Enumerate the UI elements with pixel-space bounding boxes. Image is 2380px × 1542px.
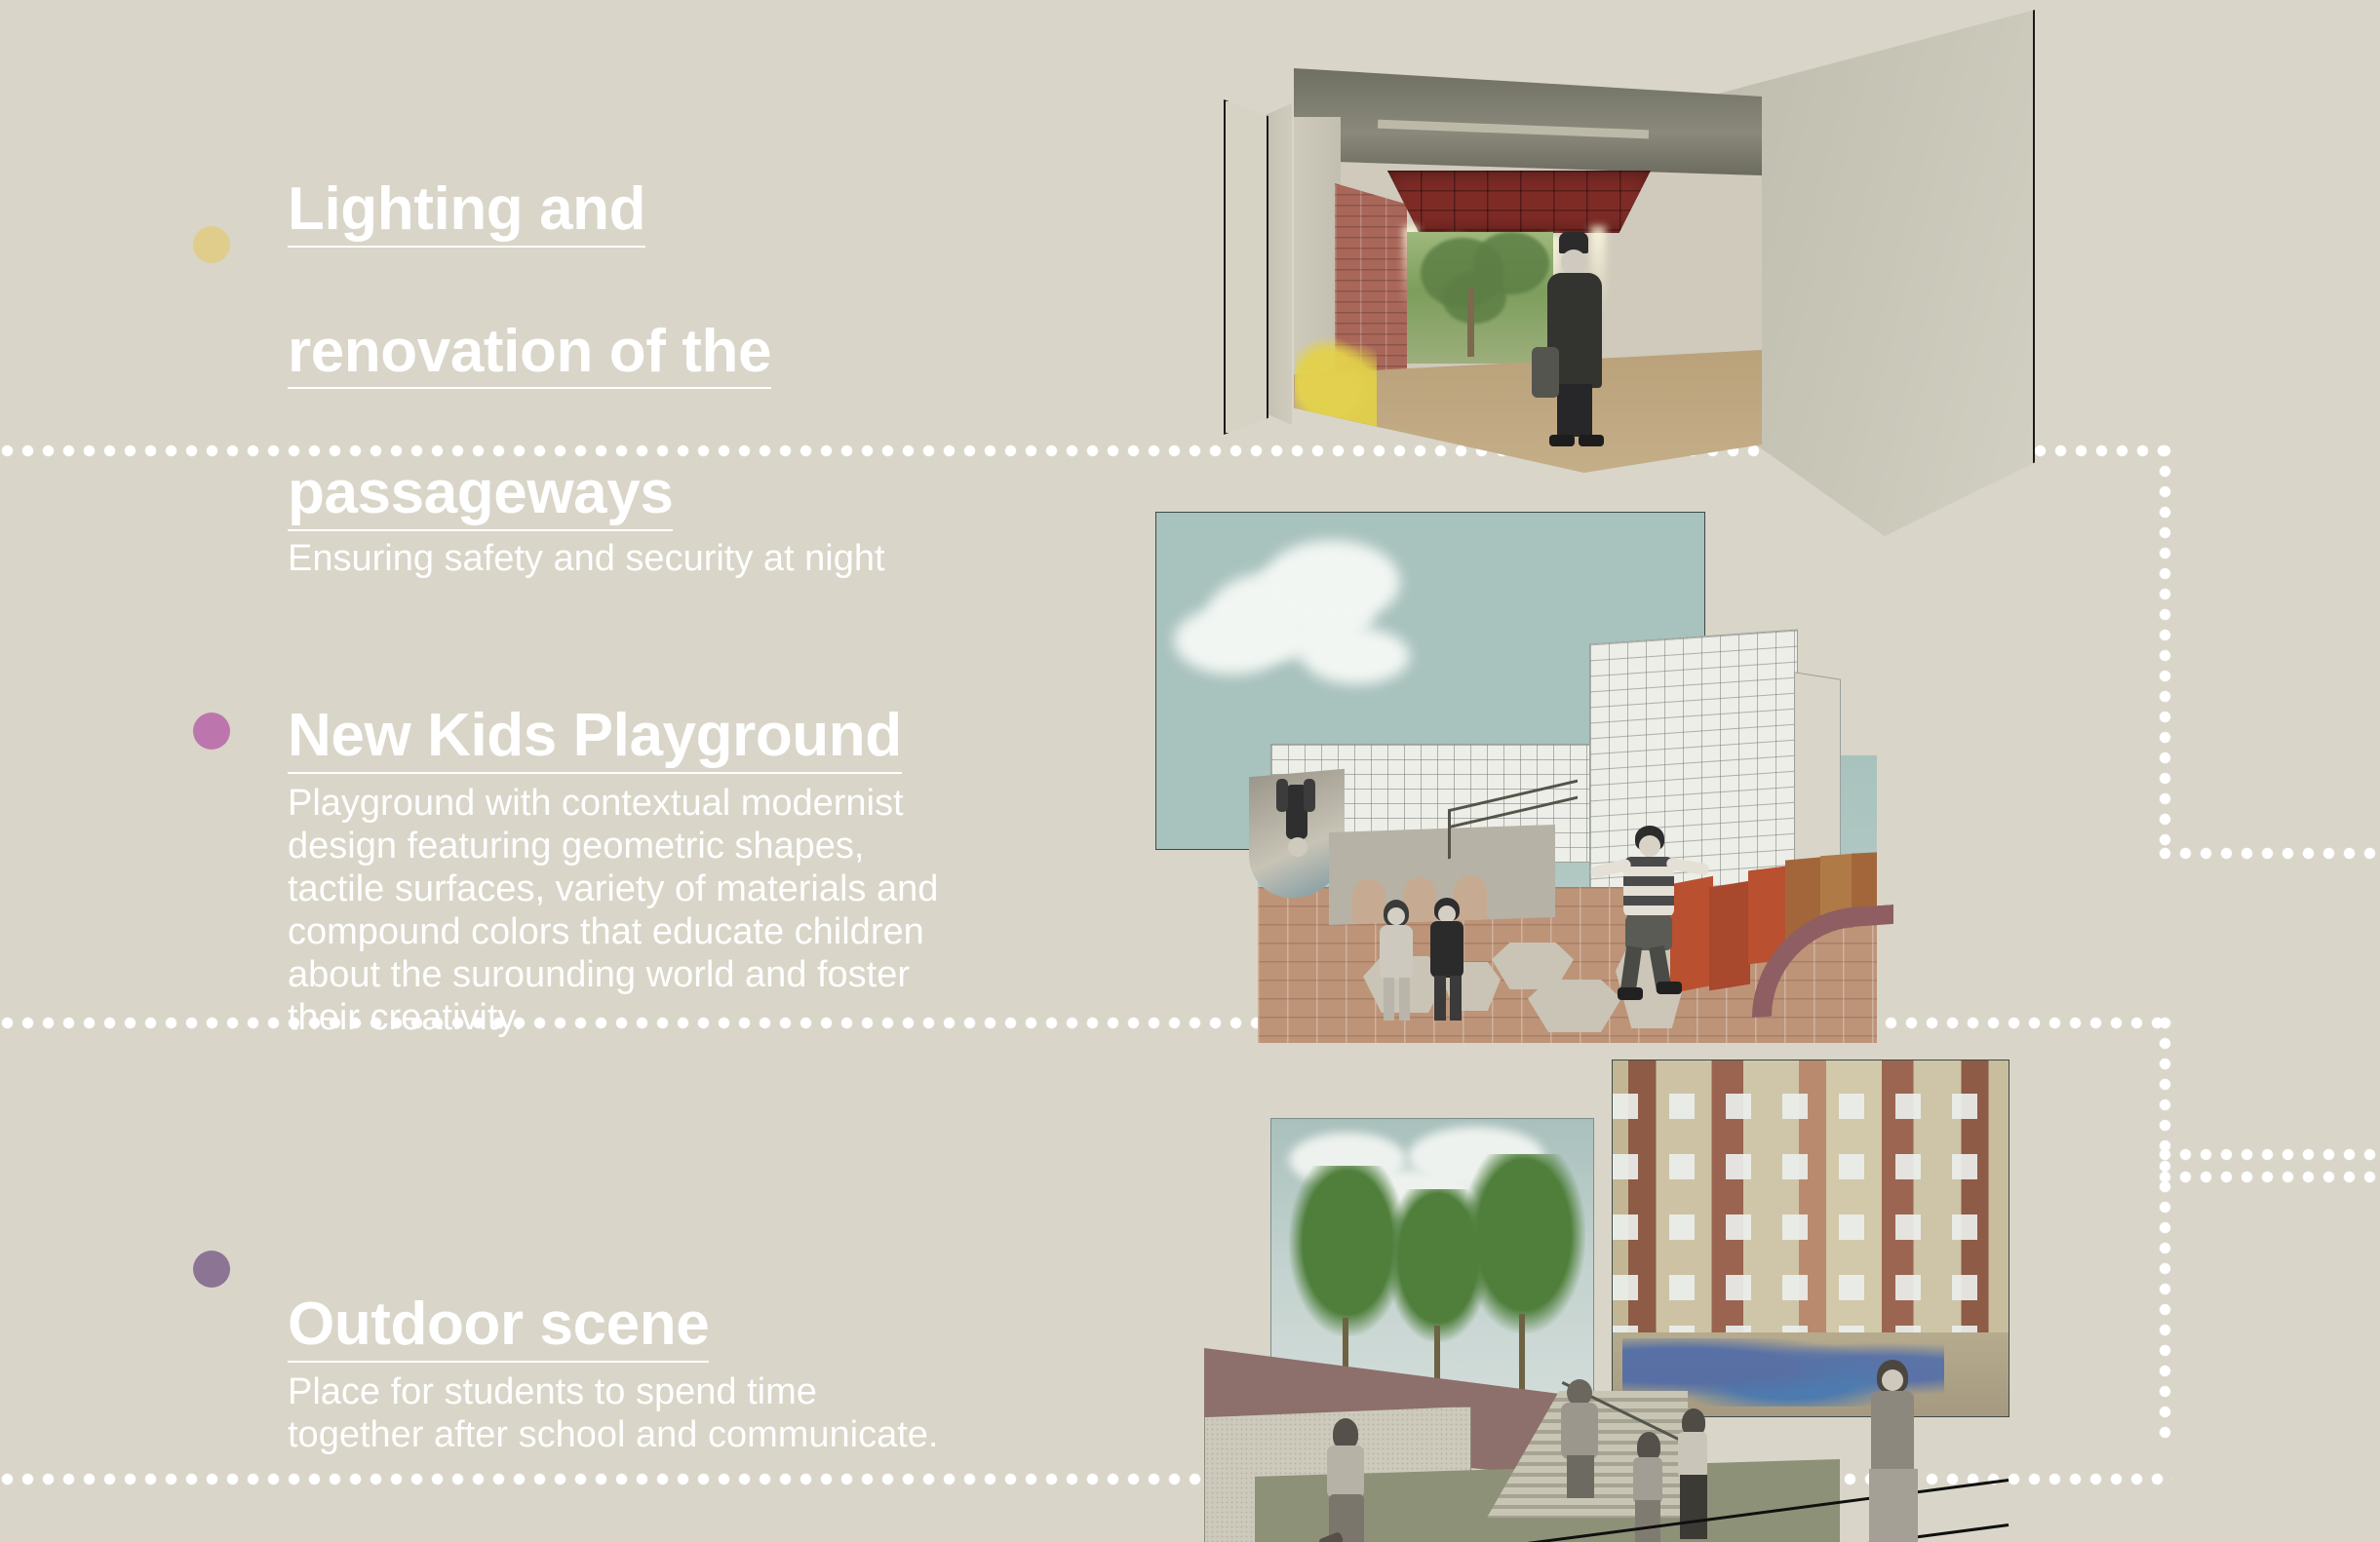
student-figure-running [1319, 1418, 1376, 1542]
dotted-guide-line-branch-lower-b [2158, 1170, 2380, 1184]
dotted-guide-line-vertical-upper [2158, 443, 2172, 853]
passageway-render [1224, 10, 2033, 536]
cloud [1174, 606, 1291, 675]
section-1-heading: Lighting and renovation of the passagewa… [288, 105, 1165, 531]
bullet-dot-magenta [193, 713, 230, 750]
figure-dress-bottom [1869, 1469, 1918, 1542]
child-figure-girl-seated [1372, 900, 1424, 1024]
dotted-guide-line-vertical-lower [2158, 1016, 2172, 1446]
section-3-heading-line-1: Outdoor scene [288, 1290, 709, 1362]
section-3-heading: Outdoor scene [288, 1220, 1165, 1363]
figure-leg [1450, 976, 1462, 1021]
outdoor-scene-render [1204, 1038, 2009, 1542]
figure-shorts [1625, 915, 1672, 950]
figure-head [1561, 250, 1586, 275]
open-door-panel [1224, 99, 1268, 435]
tree-crown [1463, 1154, 1585, 1333]
playground-render [1155, 512, 1877, 1043]
figure-dress-top [1871, 1391, 1914, 1475]
child-figure-boy-jumping [1584, 826, 1713, 1003]
figure-head [1288, 837, 1307, 857]
figure-leg [1276, 779, 1288, 812]
pedestrian-figure [1534, 232, 1616, 458]
figure-shoe [1618, 987, 1643, 1000]
figure-face [1882, 1369, 1903, 1391]
passage-interior [1294, 68, 1762, 473]
student-figure-on-stairs [1555, 1379, 1606, 1504]
section-2-text-group: New Kids Playground Playground with cont… [288, 632, 1165, 1039]
child-figure-boy-seated [1423, 898, 1475, 1024]
section-1-heading-line-3: passageways [288, 458, 673, 530]
section-1-subtitle: Ensuring safety and security at night [288, 537, 1165, 580]
window-row [1613, 1275, 2009, 1300]
figure-trousers [1635, 1500, 1660, 1542]
passage-ceiling [1294, 68, 1762, 175]
figure-face [1387, 907, 1405, 925]
window-row [1613, 1154, 2009, 1179]
figure-shoe-right [1579, 435, 1604, 446]
figure-shoe-left [1549, 435, 1575, 446]
figure-leg [1620, 945, 1642, 992]
figure-shopping-bag [1532, 347, 1559, 398]
apartment-building-photo [1612, 1060, 2009, 1417]
figure-leg [1304, 779, 1315, 812]
presentation-board: Lighting and renovation of the passagewa… [0, 0, 2380, 1542]
figure-legs [1567, 1455, 1594, 1498]
section-1-text-group: Lighting and renovation of the passagewa… [288, 105, 1165, 580]
figure-face [1639, 835, 1660, 857]
cloud [1303, 628, 1410, 684]
orange-partition [1709, 881, 1750, 991]
section-3-text-group: Outdoor scene Place for students to spen… [288, 1220, 1165, 1456]
ceiling-light-grid [1387, 171, 1651, 233]
figure-dress [1380, 925, 1413, 980]
bullet-dot-purple [193, 1251, 230, 1288]
figure-leg [1384, 978, 1394, 1021]
tree-trunk [1467, 289, 1474, 357]
graffiti-yellow [1295, 329, 1377, 437]
figure-leg [1434, 976, 1446, 1021]
figure-coat [1561, 1403, 1598, 1459]
section-2-heading: New Kids Playground [288, 632, 1165, 774]
tree-trunk [1519, 1314, 1525, 1396]
tree [1463, 1154, 1585, 1396]
figure-legs [1557, 384, 1592, 437]
window-row [1613, 1214, 2009, 1240]
section-1-heading-line-2: renovation of the [288, 317, 771, 389]
ceiling-beam [1378, 120, 1650, 139]
figure-trousers [1680, 1475, 1707, 1539]
tree-foliage [1442, 271, 1506, 324]
figure-top [1327, 1446, 1364, 1498]
window-row [1613, 1094, 2009, 1119]
section-1-heading-line-1: Lighting and [288, 174, 645, 247]
section-3-subtitle: Place for students to spend time togethe… [288, 1370, 1165, 1456]
cloud [1264, 540, 1400, 624]
passage-opening-greenery [1407, 232, 1553, 364]
dotted-guide-line-branch-upper [2158, 846, 2380, 861]
figure-top [1678, 1432, 1707, 1479]
figure-leg [1399, 978, 1410, 1021]
figure-top [1633, 1457, 1662, 1504]
student-figure-foreground [1859, 1360, 1930, 1542]
section-2-heading-line-1: New Kids Playground [288, 701, 902, 773]
section-2-subtitle: Playground with contextual modernist des… [288, 782, 1165, 1039]
child-figure-upside-down [1274, 785, 1319, 894]
figure-shoe [1657, 982, 1682, 994]
dotted-guide-line-branch-lower-a [2158, 1147, 2380, 1162]
figure-jacket [1430, 921, 1463, 978]
bullet-dot-yellow [193, 226, 230, 263]
